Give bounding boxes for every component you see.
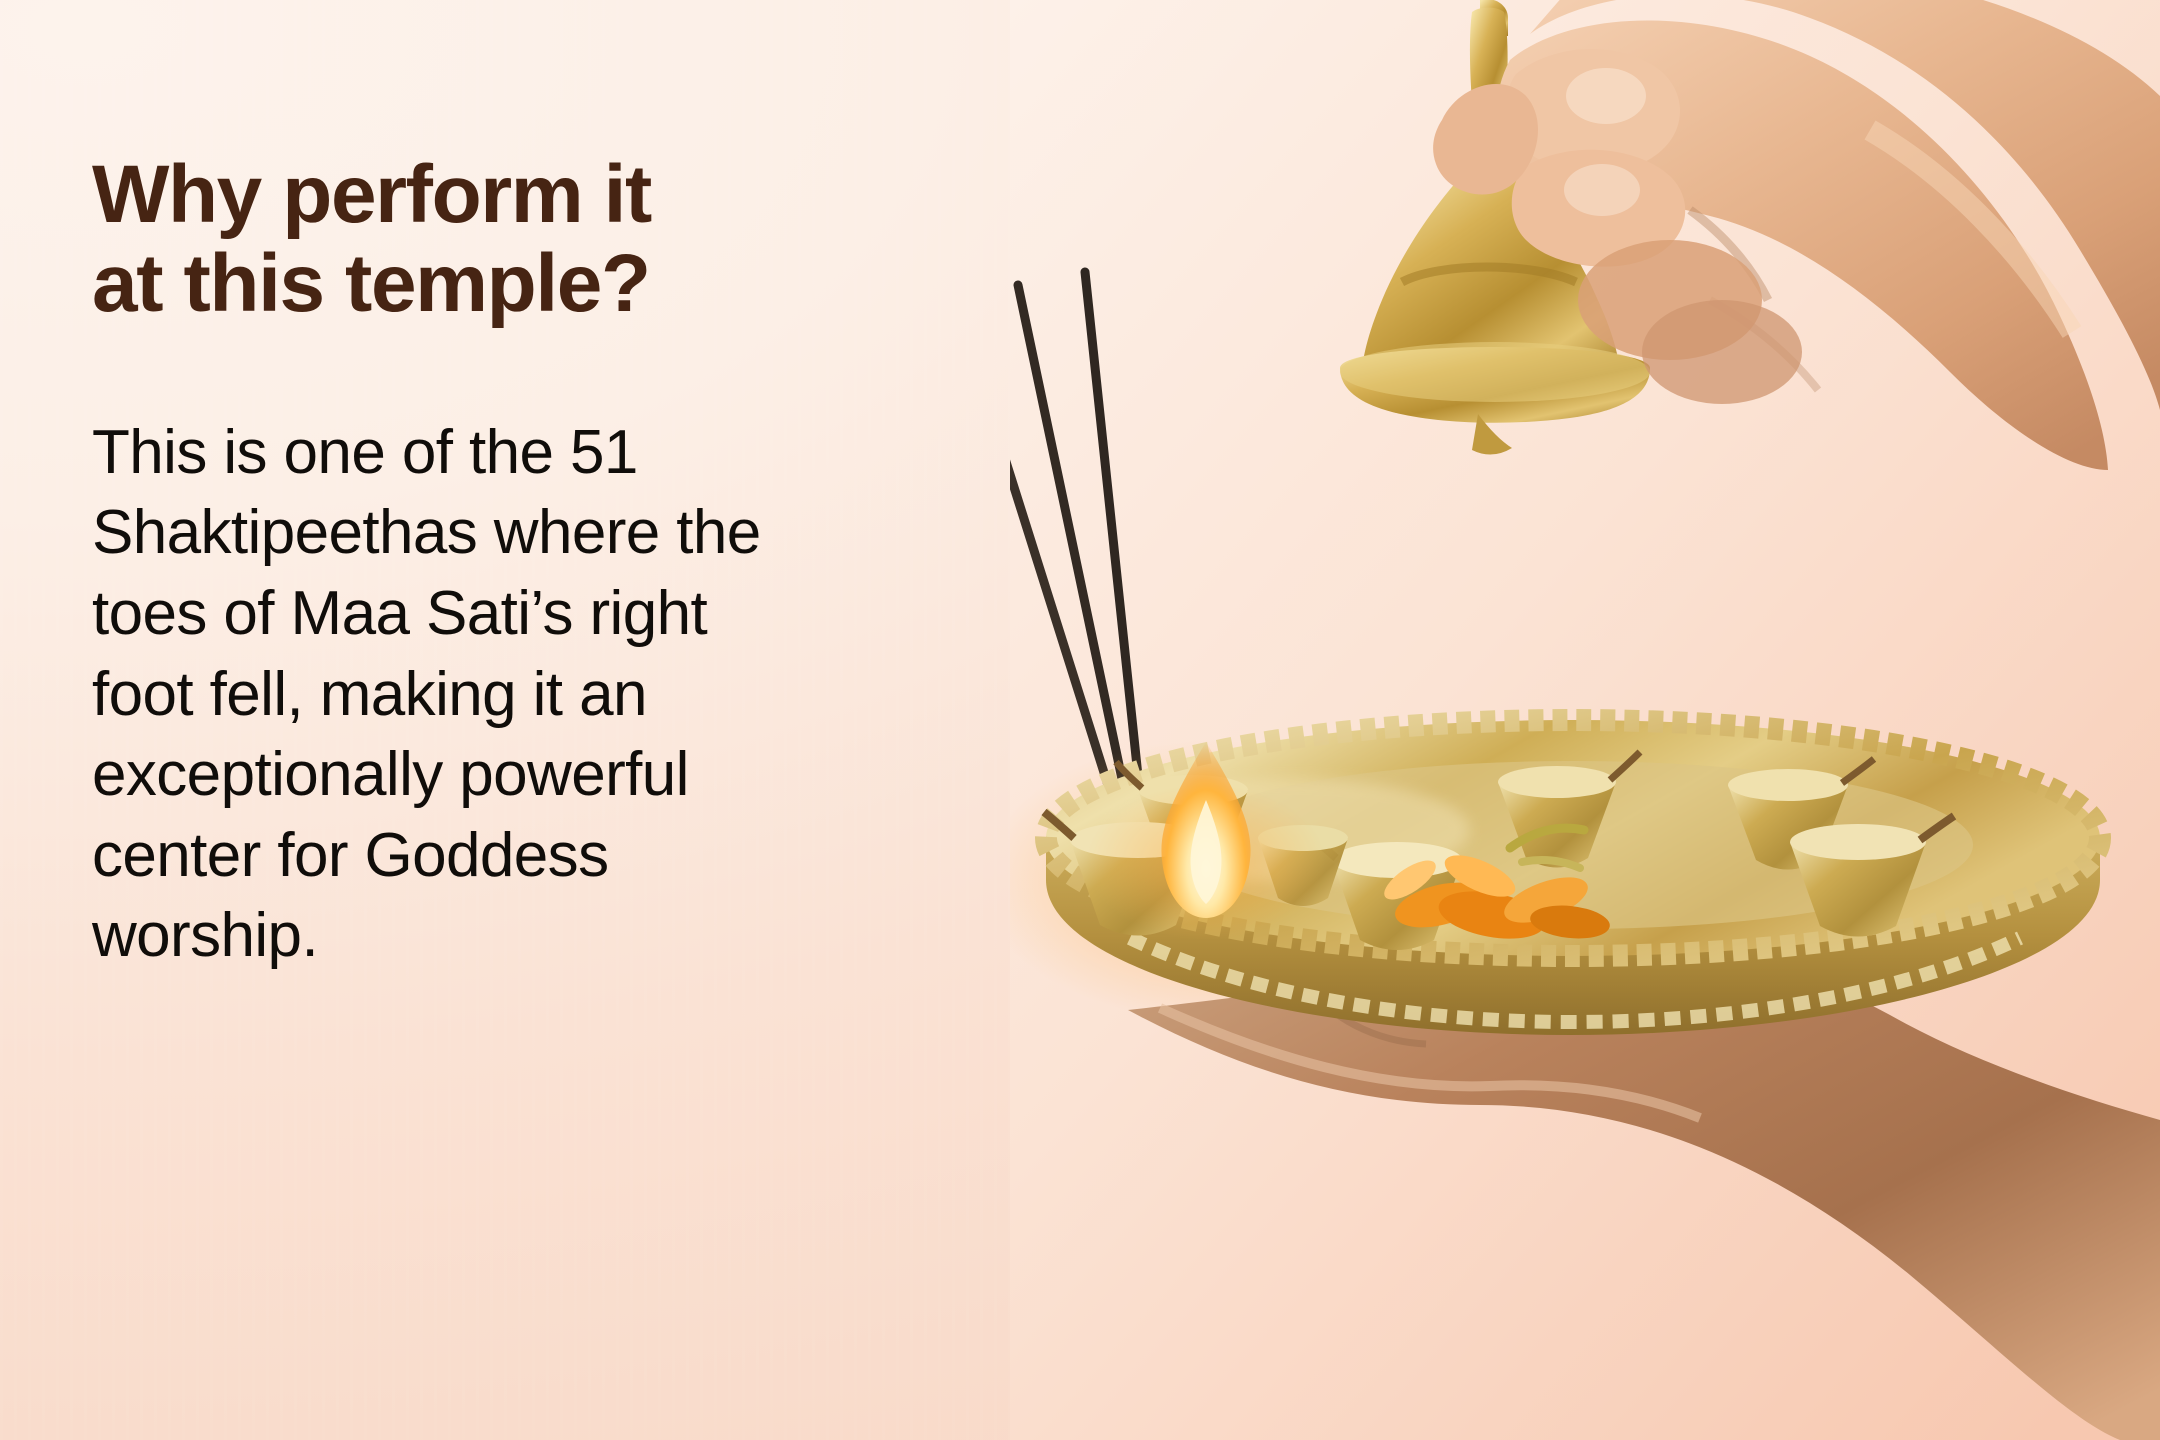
- page-title: Why perform it at this temple?: [92, 150, 1092, 329]
- curled-fingers: [1642, 300, 1802, 404]
- slide-root: Why perform it at this temple? This is o…: [0, 0, 2160, 1440]
- puja-illustration: [1010, 0, 2160, 1440]
- fingernail: [1566, 68, 1646, 124]
- puja-photograph: [1010, 0, 2160, 1440]
- text-column: Why perform it at this temple? This is o…: [92, 150, 1092, 977]
- bell-skirt-highlight: [1340, 342, 1650, 402]
- body-paragraph: This is one of the 51 Shaktipeethas wher…: [92, 413, 792, 977]
